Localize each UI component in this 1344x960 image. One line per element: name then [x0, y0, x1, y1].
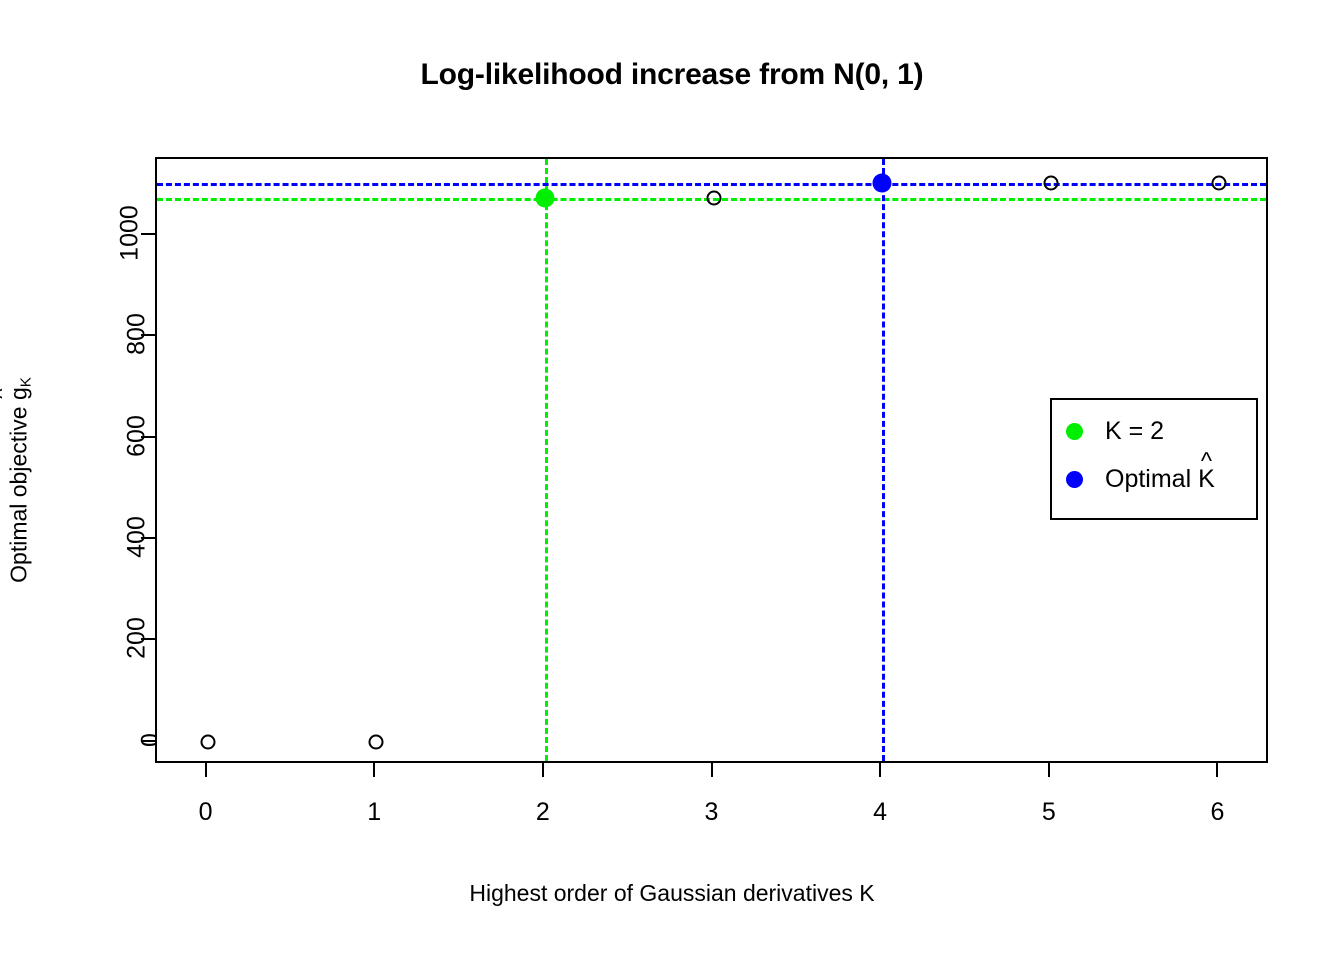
- legend-label-k2: K = 2: [1105, 417, 1164, 446]
- x-tick-mark: [711, 763, 713, 777]
- y-tick-mark: [141, 233, 155, 235]
- x-tick-mark: [1216, 763, 1218, 777]
- data-point-open-circle: [706, 191, 721, 206]
- legend-marker-green-circle: [1066, 423, 1083, 440]
- x-axis-label: Highest order of Gaussian derivatives K: [0, 880, 1344, 907]
- y-axis-label-variable: ^g: [5, 387, 32, 400]
- reference-line-horizontal: [157, 183, 1266, 186]
- reference-line-vertical: [882, 159, 885, 761]
- legend-label-khat: ^K: [1198, 465, 1215, 494]
- x-tick-label: 3: [705, 798, 719, 827]
- legend-entry-k2: K = 2: [1066, 410, 1164, 452]
- data-point-k2-highlight: [535, 189, 554, 208]
- y-axis-label: Optimal objective ^gK: [5, 377, 34, 583]
- y-tick-mark: [141, 334, 155, 336]
- y-tick-mark: [141, 638, 155, 640]
- x-tick-label: 0: [199, 798, 213, 827]
- legend-entry-optimal-k: Optimal ^K: [1066, 458, 1215, 500]
- x-tick-mark: [205, 763, 207, 777]
- x-tick-mark: [879, 763, 881, 777]
- y-tick-mark: [141, 436, 155, 438]
- chart-legend: K = 2 Optimal ^K: [1050, 398, 1258, 520]
- data-point-optimal-k-highlight: [873, 174, 892, 193]
- legend-label-optimal-k: Optimal ^K: [1105, 465, 1215, 494]
- x-tick-mark: [1048, 763, 1050, 777]
- hat-accent-icon: ^: [1201, 450, 1212, 474]
- y-axis-label-prefix: Optimal objective: [5, 400, 31, 583]
- legend-marker-blue-circle: [1066, 471, 1083, 488]
- hat-accent-icon: ^: [0, 389, 14, 399]
- data-point-open-circle: [369, 734, 384, 749]
- x-tick-label: 5: [1042, 798, 1056, 827]
- y-tick-mark: [141, 740, 155, 742]
- x-tick-mark: [542, 763, 544, 777]
- data-point-open-circle: [200, 734, 215, 749]
- x-tick-label: 4: [873, 798, 887, 827]
- y-tick-mark: [141, 537, 155, 539]
- x-tick-label: 6: [1210, 798, 1224, 827]
- x-tick-label: 2: [536, 798, 550, 827]
- y-axis-label-subscript: K: [18, 377, 35, 387]
- x-tick-label: 1: [367, 798, 381, 827]
- data-point-open-circle: [1043, 176, 1058, 191]
- legend-label-optimal-prefix: Optimal: [1105, 465, 1198, 493]
- chart-title: Log-likelihood increase from N(0, 1): [0, 58, 1344, 92]
- chart-figure: Log-likelihood increase from N(0, 1) Opt…: [0, 0, 1344, 960]
- y-axis-label-wrapper: Optimal objective ^gK: [0, 0, 40, 960]
- data-point-open-circle: [1212, 176, 1227, 191]
- reference-line-vertical: [545, 159, 548, 761]
- x-tick-mark: [373, 763, 375, 777]
